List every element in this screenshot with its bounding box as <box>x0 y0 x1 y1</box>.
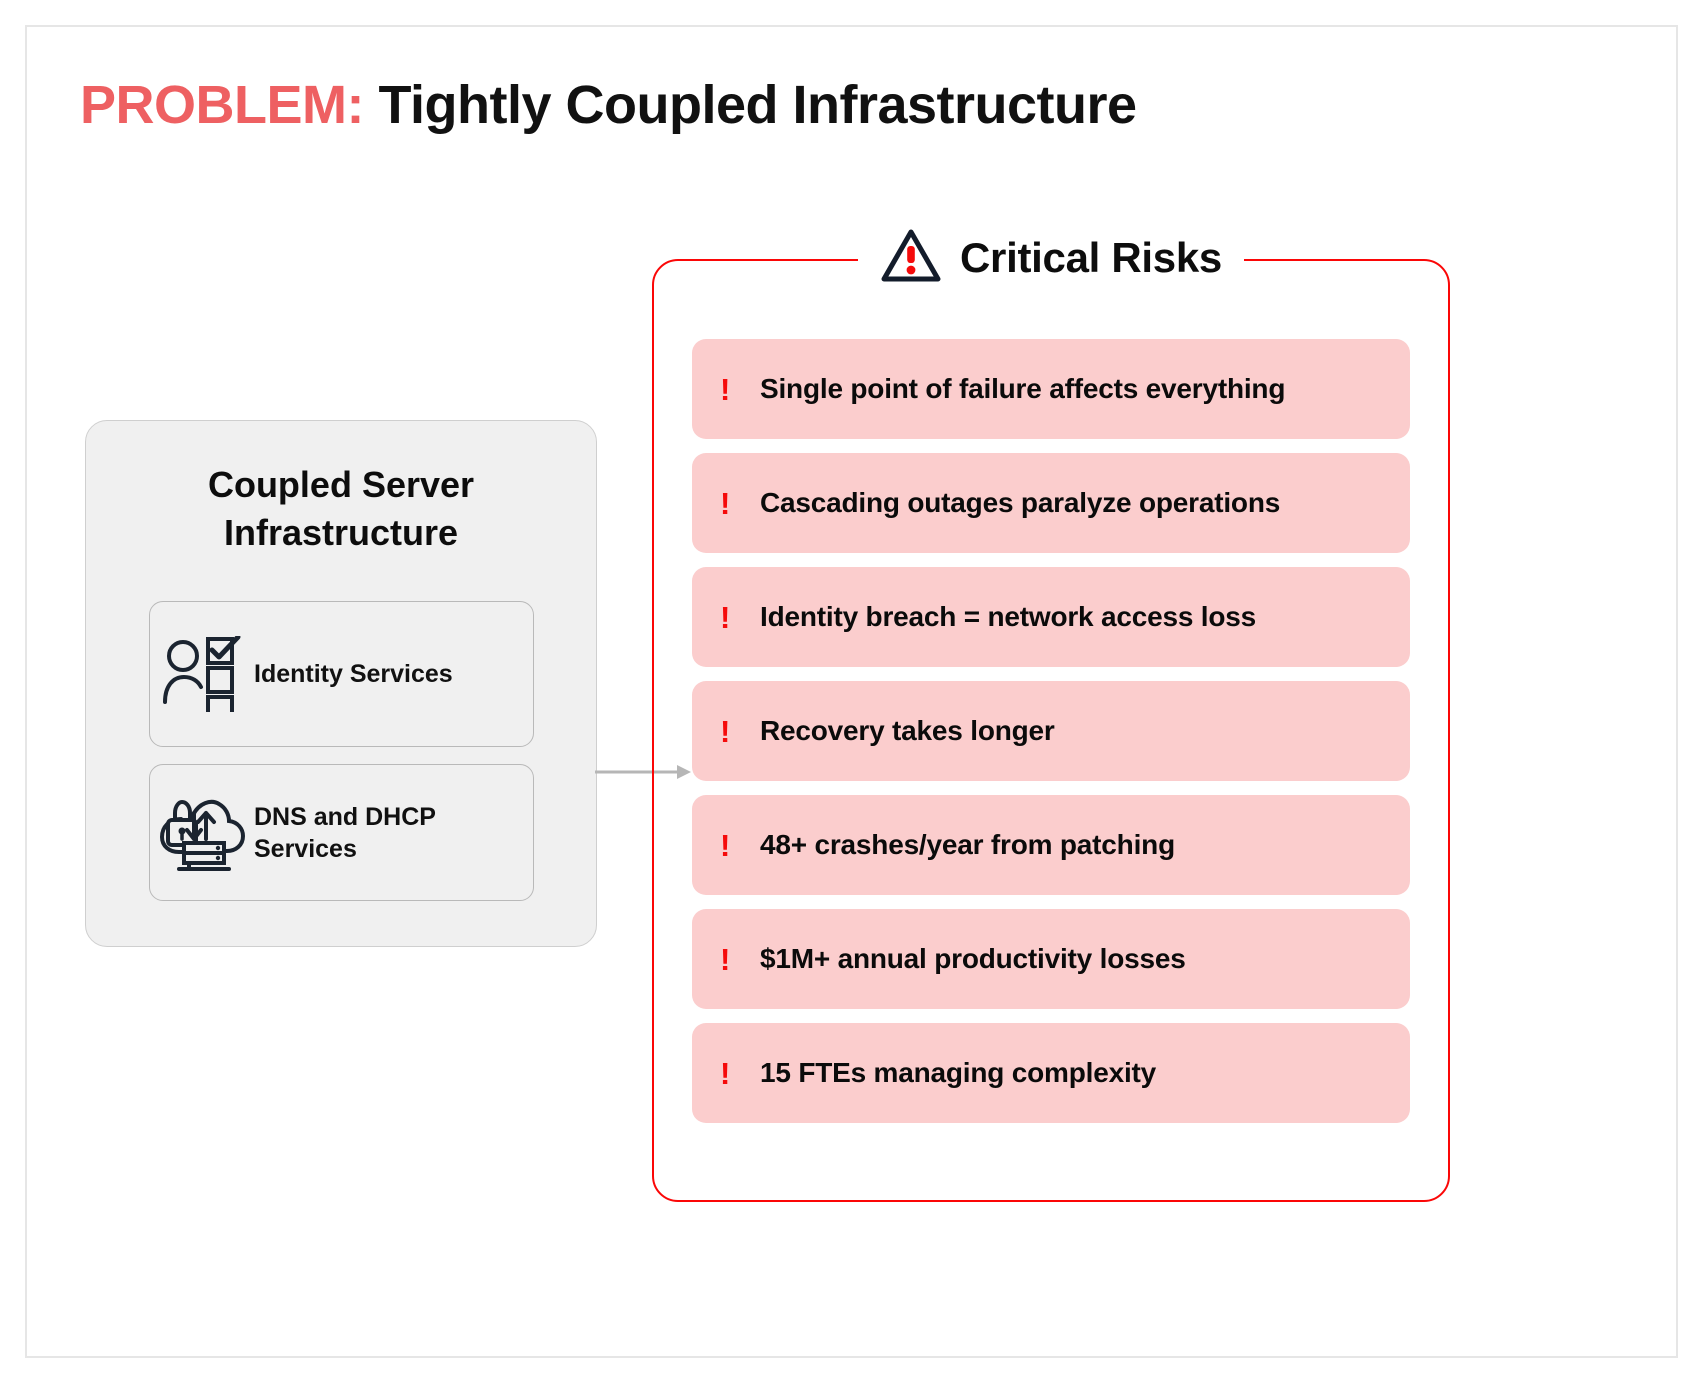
panel-heading: Coupled Server Infrastructure <box>86 461 596 557</box>
risk-item[interactable]: ! $1M+ annual productivity losses <box>692 909 1410 1009</box>
risk-item[interactable]: ! 15 FTEs managing complexity <box>692 1023 1410 1123</box>
critical-risks-header: Critical Risks <box>652 222 1450 294</box>
risk-item[interactable]: ! Recovery takes longer <box>692 681 1410 781</box>
risk-item-label: 48+ crashes/year from patching <box>760 829 1175 861</box>
risk-item[interactable]: ! 48+ crashes/year from patching <box>692 795 1410 895</box>
service-card-identity[interactable]: Identity Services <box>149 601 534 747</box>
risk-item-label: Cascading outages paralyze operations <box>760 487 1280 519</box>
user-checklist-icon <box>150 636 254 712</box>
exclamation-icon: ! <box>720 374 760 405</box>
exclamation-icon: ! <box>720 830 760 861</box>
risk-item-label: Identity breach = network access loss <box>760 601 1256 633</box>
service-card-dns-dhcp[interactable]: DNS and DHCP Services <box>149 764 534 901</box>
service-label: DNS and DHCP Services <box>254 801 533 865</box>
risk-item[interactable]: ! Cascading outages paralyze operations <box>692 453 1410 553</box>
risk-item-label: 15 FTEs managing complexity <box>760 1057 1156 1089</box>
page-frame: PROBLEM: Tightly Coupled Infrastructure … <box>25 25 1678 1358</box>
critical-risks-title: Critical Risks <box>960 234 1222 282</box>
exclamation-icon: ! <box>720 716 760 747</box>
exclamation-icon: ! <box>720 944 760 975</box>
risk-item-label: $1M+ annual productivity losses <box>760 943 1186 975</box>
risk-item-label: Recovery takes longer <box>760 715 1055 747</box>
exclamation-icon: ! <box>720 602 760 633</box>
lock-cloud-server-icon <box>150 791 254 875</box>
risk-item[interactable]: ! Identity breach = network access loss <box>692 567 1410 667</box>
page-title-rest: Tightly Coupled Infrastructure <box>364 75 1137 135</box>
warning-triangle-icon <box>880 228 942 289</box>
page-title-highlight: PROBLEM: <box>80 75 364 135</box>
critical-risks-list: ! Single point of failure affects everyt… <box>692 339 1410 1137</box>
exclamation-icon: ! <box>720 1058 760 1089</box>
exclamation-icon: ! <box>720 488 760 519</box>
coupled-server-infrastructure-panel: Coupled Server Infrastructure Identity S… <box>85 420 597 947</box>
service-label: Identity Services <box>254 658 463 690</box>
risk-item[interactable]: ! Single point of failure affects everyt… <box>692 339 1410 439</box>
risk-item-label: Single point of failure affects everythi… <box>760 373 1285 405</box>
page-title: PROBLEM: Tightly Coupled Infrastructure <box>80 74 1137 136</box>
